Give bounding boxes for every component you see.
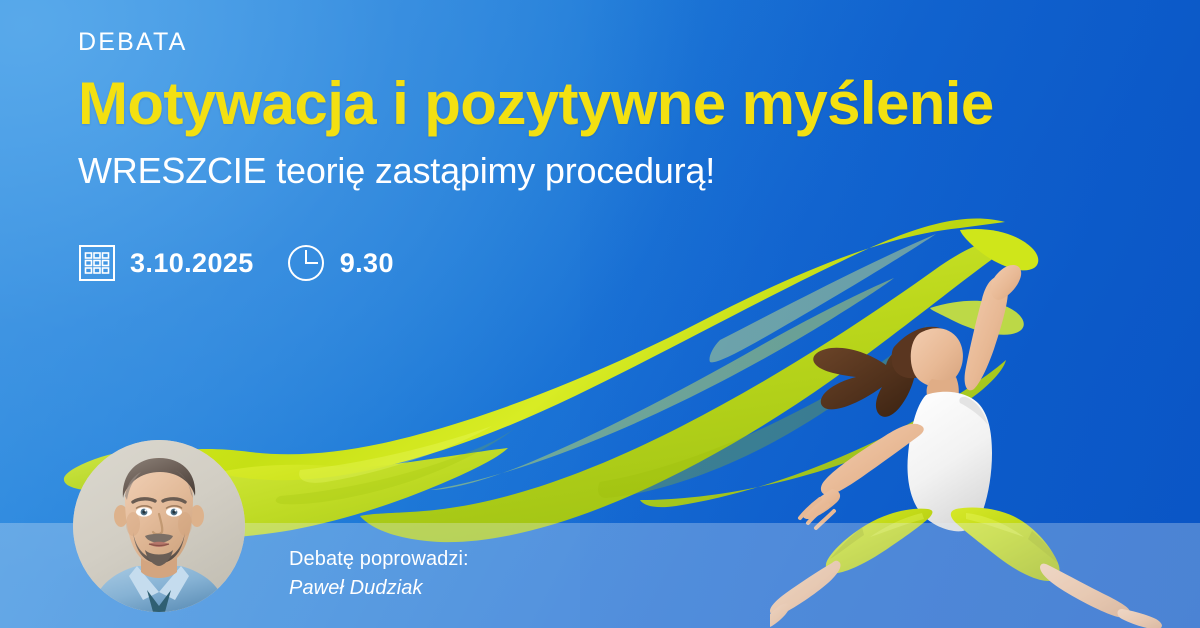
kicker-label: DEBATA: [78, 30, 1148, 57]
subtitle: WRESZCIE teorię zastąpimy procedurą!: [78, 151, 1148, 191]
event-time: 9.30: [286, 243, 394, 283]
headline-block: DEBATA Motywacja i pozytywne myślenie WR…: [78, 30, 1148, 191]
date-text: 3.10.2025: [130, 250, 254, 277]
calendar-icon: [78, 244, 116, 282]
avatar-portrait: [73, 440, 245, 612]
event-banner: DEBATA Motywacja i pozytywne myślenie WR…: [0, 0, 1200, 628]
avatar: [73, 440, 245, 612]
event-meta: 3.10.2025 9.30: [78, 243, 394, 283]
time-text: 9.30: [340, 250, 394, 277]
presenter-label: Debatę poprowadzi:: [289, 546, 469, 573]
presenter-info: Debatę poprowadzi: Paweł Dudziak: [289, 546, 469, 601]
presenter-name: Paweł Dudziak: [289, 575, 469, 602]
clock-icon: [286, 243, 326, 283]
event-date: 3.10.2025: [78, 244, 254, 282]
page-title: Motywacja i pozytywne myślenie: [78, 73, 1148, 135]
